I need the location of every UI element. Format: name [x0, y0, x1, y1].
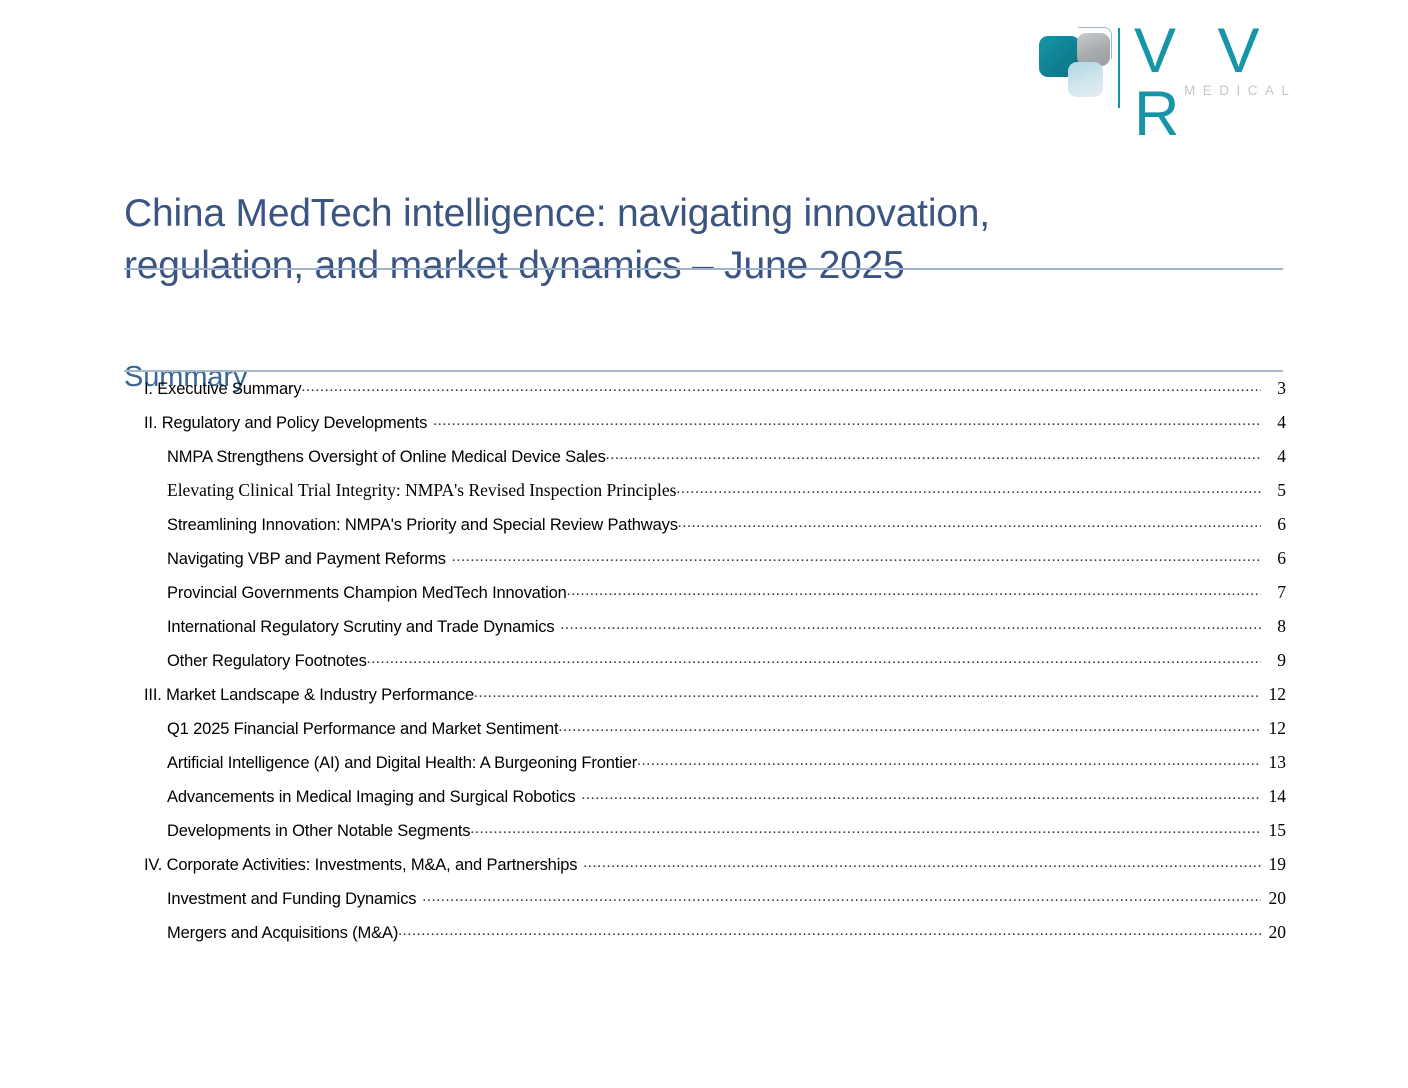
toc-dot-leader	[398, 922, 1261, 938]
toc-entry-page-number: 20	[1261, 888, 1286, 909]
table-of-contents: I. Executive Summary3II. Regulatory and …	[124, 378, 1286, 956]
logo-square-outline-icon	[1078, 27, 1112, 59]
toc-entry-page-number: 5	[1261, 480, 1286, 501]
page-title: China MedTech intelligence: navigating i…	[124, 188, 1124, 292]
toc-entry-page-number: 3	[1261, 378, 1286, 399]
toc-entry[interactable]: Other Regulatory Footnotes9	[124, 650, 1286, 684]
toc-dot-leader	[433, 412, 1261, 428]
toc-entry-label: Advancements in Medical Imaging and Surg…	[167, 788, 575, 807]
toc-entry-page-number: 4	[1261, 412, 1286, 433]
toc-dot-leader	[452, 548, 1261, 564]
logo-tagline: MEDICAL	[1184, 84, 1297, 98]
toc-entry-page-number: 12	[1261, 684, 1286, 705]
toc-entry-label: I. Executive Summary	[144, 380, 301, 399]
toc-dot-leader	[422, 888, 1261, 904]
toc-entry-page-number: 20	[1261, 922, 1286, 943]
toc-dot-leader	[558, 718, 1261, 734]
toc-entry-label: IV. Corporate Activities: Investments, M…	[144, 856, 577, 875]
toc-dot-leader	[560, 616, 1261, 632]
toc-entry-label: Navigating VBP and Payment Reforms	[167, 550, 446, 569]
toc-dot-leader	[606, 446, 1261, 462]
vvr-medical-logo: V V R MEDICAL	[1036, 22, 1286, 114]
toc-entry-page-number: 15	[1261, 820, 1286, 841]
toc-entry[interactable]: I. Executive Summary3	[124, 378, 1286, 412]
toc-dot-leader	[367, 650, 1261, 666]
toc-entry-label: Streamlining Innovation: NMPA's Priority…	[167, 516, 678, 535]
toc-entry-page-number: 6	[1261, 514, 1286, 535]
toc-entry-label: Investment and Funding Dynamics	[167, 890, 416, 909]
toc-entry[interactable]: IV. Corporate Activities: Investments, M…	[124, 854, 1286, 888]
toc-entry-label: Provincial Governments Champion MedTech …	[167, 584, 567, 603]
toc-entry[interactable]: Provincial Governments Champion MedTech …	[124, 582, 1286, 616]
toc-entry-page-number: 4	[1261, 446, 1286, 467]
toc-dot-leader	[676, 480, 1261, 496]
summary-divider	[124, 370, 1283, 372]
toc-entry-label: Artificial Intelligence (AI) and Digital…	[167, 754, 637, 773]
toc-entry-page-number: 8	[1261, 616, 1286, 637]
logo-square-lightblue-icon	[1068, 62, 1103, 97]
toc-entry-label: II. Regulatory and Policy Developments	[144, 414, 427, 433]
toc-entry[interactable]: III. Market Landscape & Industry Perform…	[124, 684, 1286, 718]
toc-entry-label: Mergers and Acquisitions (M&A)	[167, 924, 398, 943]
toc-dot-leader	[581, 786, 1261, 802]
toc-entry-label: Developments in Other Notable Segments	[167, 822, 470, 841]
toc-entry-page-number: 14	[1261, 786, 1286, 807]
toc-entry-label: III. Market Landscape & Industry Perform…	[144, 686, 474, 705]
toc-entry-page-number: 6	[1261, 548, 1286, 569]
document-page: V V R MEDICAL China MedTech intelligence…	[0, 0, 1408, 1088]
toc-entry-label: NMPA Strengthens Oversight of Online Med…	[167, 448, 606, 467]
title-divider	[124, 268, 1283, 270]
toc-dot-leader	[583, 854, 1261, 870]
toc-dot-leader	[637, 752, 1261, 768]
toc-entry-label: Q1 2025 Financial Performance and Market…	[167, 720, 558, 739]
toc-entry-label: Other Regulatory Footnotes	[167, 652, 367, 671]
toc-entry[interactable]: Advancements in Medical Imaging and Surg…	[124, 786, 1286, 820]
toc-dot-leader	[301, 378, 1261, 394]
toc-entry-page-number: 9	[1261, 650, 1286, 671]
toc-dot-leader	[678, 514, 1261, 530]
toc-entry-label: Elevating Clinical Trial Integrity: NMPA…	[167, 480, 676, 501]
toc-entry[interactable]: Mergers and Acquisitions (M&A)20	[124, 922, 1286, 956]
toc-entry-label: International Regulatory Scrutiny and Tr…	[167, 618, 554, 637]
toc-entry-page-number: 12	[1261, 718, 1286, 739]
toc-entry[interactable]: NMPA Strengthens Oversight of Online Med…	[124, 446, 1286, 480]
toc-entry-page-number: 13	[1261, 752, 1286, 773]
toc-entry[interactable]: Streamlining Innovation: NMPA's Priority…	[124, 514, 1286, 548]
toc-dot-leader	[474, 684, 1261, 700]
toc-entry-page-number: 19	[1261, 854, 1286, 875]
toc-entry[interactable]: Investment and Funding Dynamics20	[124, 888, 1286, 922]
toc-entry[interactable]: Q1 2025 Financial Performance and Market…	[124, 718, 1286, 752]
toc-entry[interactable]: Artificial Intelligence (AI) and Digital…	[124, 752, 1286, 786]
toc-entry-page-number: 7	[1261, 582, 1286, 603]
toc-entry[interactable]: Developments in Other Notable Segments15	[124, 820, 1286, 854]
toc-entry[interactable]: International Regulatory Scrutiny and Tr…	[124, 616, 1286, 650]
toc-entry[interactable]: II. Regulatory and Policy Developments4	[124, 412, 1286, 446]
toc-entry[interactable]: Navigating VBP and Payment Reforms6	[124, 548, 1286, 582]
logo-mark-icon	[1036, 22, 1114, 100]
logo-divider	[1118, 28, 1120, 108]
toc-dot-leader	[470, 820, 1261, 836]
toc-dot-leader	[567, 582, 1261, 598]
toc-entry[interactable]: Elevating Clinical Trial Integrity: NMPA…	[124, 480, 1286, 514]
